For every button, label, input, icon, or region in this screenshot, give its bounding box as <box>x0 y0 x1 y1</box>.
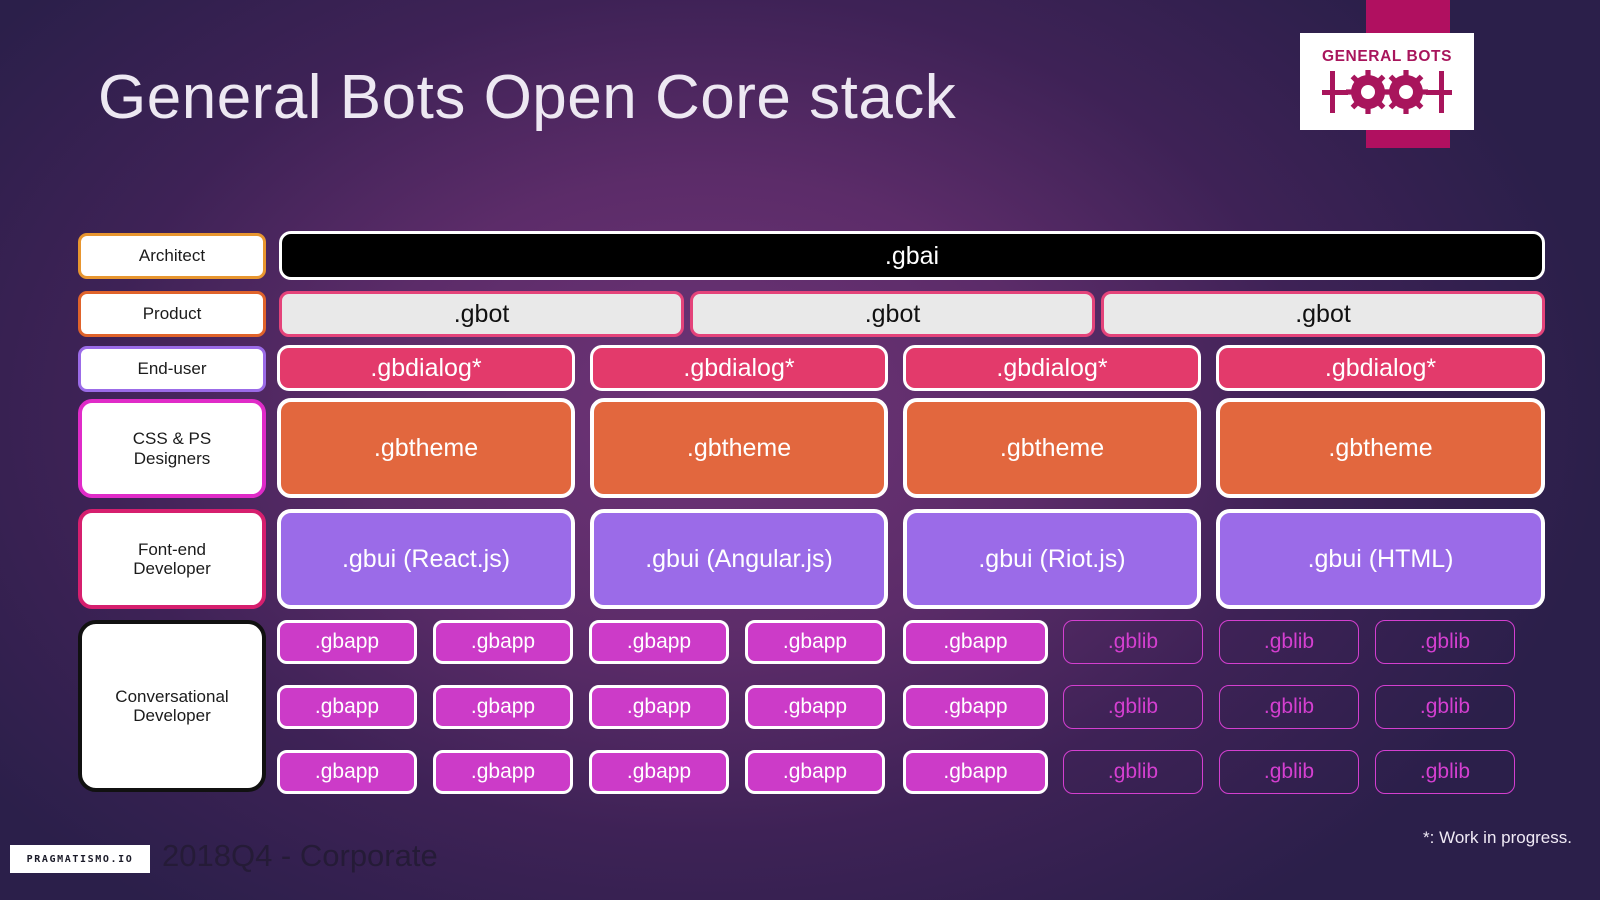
layer-box-gbdialog[interactable]: .gbdialog* <box>590 345 888 391</box>
layer-box-gbtheme[interactable]: .gbtheme <box>277 398 575 498</box>
role-label-conversational-developer: Conversational Developer <box>78 620 266 792</box>
layer-box-gblib[interactable]: .gblib <box>1219 685 1359 729</box>
layer-box-gbapp[interactable]: .gbapp <box>589 685 729 729</box>
layer-box-gbdialog[interactable]: .gbdialog* <box>277 345 575 391</box>
role-label-architect: Architect <box>78 233 266 279</box>
layer-box-gbot[interactable]: .gbot <box>279 291 684 337</box>
layer-box-gblib[interactable]: .gblib <box>1219 750 1359 794</box>
layer-box-gbapp[interactable]: .gbapp <box>589 750 729 794</box>
layer-box-gbapp[interactable]: .gbapp <box>277 685 417 729</box>
layer-box-gblib[interactable]: .gblib <box>1375 685 1515 729</box>
layer-box-gbapp[interactable]: .gbapp <box>433 750 573 794</box>
layer-box-gblib[interactable]: .gblib <box>1063 750 1203 794</box>
layer-box-gbtheme[interactable]: .gbtheme <box>1216 398 1545 498</box>
stack-diagram: Architect Product End-user CSS & PS Desi… <box>0 0 1600 900</box>
role-label-end-user: End-user <box>78 346 266 392</box>
layer-box-gbui-angular[interactable]: .gbui (Angular.js) <box>590 509 888 609</box>
layer-box-gbtheme[interactable]: .gbtheme <box>903 398 1201 498</box>
layer-box-gbapp[interactable]: .gbapp <box>433 685 573 729</box>
layer-box-gblib[interactable]: .gblib <box>1063 620 1203 664</box>
layer-box-gbapp[interactable]: .gbapp <box>277 750 417 794</box>
pragmatismo-logo: PRAGMATISMO.IO <box>10 845 150 873</box>
layer-box-gbapp[interactable]: .gbapp <box>433 620 573 664</box>
layer-box-gbapp[interactable]: .gbapp <box>903 750 1048 794</box>
layer-box-gbot[interactable]: .gbot <box>1101 291 1545 337</box>
pragmatismo-wordmark: PRAGMATISMO.IO <box>27 854 134 865</box>
layer-box-gbtheme[interactable]: .gbtheme <box>590 398 888 498</box>
layer-box-gbui-react[interactable]: .gbui (React.js) <box>277 509 575 609</box>
layer-box-gblib[interactable]: .gblib <box>1375 750 1515 794</box>
footnote-work-in-progress: *: Work in progress. <box>1423 828 1572 848</box>
layer-box-gblib[interactable]: .gblib <box>1063 685 1203 729</box>
layer-box-gbapp[interactable]: .gbapp <box>589 620 729 664</box>
layer-box-gbdialog[interactable]: .gbdialog* <box>1216 345 1545 391</box>
layer-box-gbui-riot[interactable]: .gbui (Riot.js) <box>903 509 1201 609</box>
layer-box-gbot[interactable]: .gbot <box>690 291 1095 337</box>
layer-box-gbdialog[interactable]: .gbdialog* <box>903 345 1201 391</box>
slide-canvas: General Bots Open Core stack GENERAL BOT… <box>0 0 1600 900</box>
role-label-product: Product <box>78 291 266 337</box>
layer-box-gbapp[interactable]: .gbapp <box>745 750 885 794</box>
layer-box-gbapp[interactable]: .gbapp <box>277 620 417 664</box>
layer-box-gblib[interactable]: .gblib <box>1219 620 1359 664</box>
layer-box-gblib[interactable]: .gblib <box>1375 620 1515 664</box>
footer-caption: 2018Q4 - Corporate <box>162 838 438 874</box>
layer-box-gbapp[interactable]: .gbapp <box>745 620 885 664</box>
role-label-front-end-developer: Font-end Developer <box>78 509 266 609</box>
layer-box-gbapp[interactable]: .gbapp <box>745 685 885 729</box>
layer-box-gbui-html[interactable]: .gbui (HTML) <box>1216 509 1545 609</box>
role-label-css-ps-designers: CSS & PS Designers <box>78 399 266 498</box>
layer-box-gbapp[interactable]: .gbapp <box>903 685 1048 729</box>
layer-box-gbapp[interactable]: .gbapp <box>903 620 1048 664</box>
layer-box-gbai[interactable]: .gbai <box>279 231 1545 280</box>
